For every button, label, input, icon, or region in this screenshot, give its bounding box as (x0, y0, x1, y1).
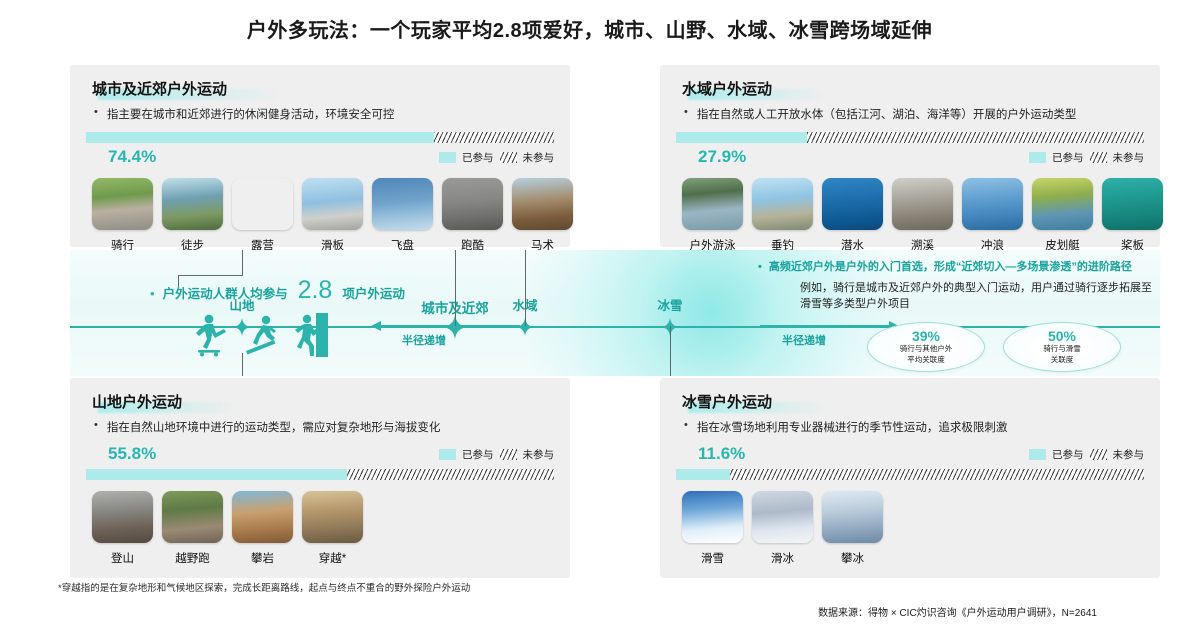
panel-water-bar (676, 132, 1144, 143)
activity-card[interactable]: 户外游泳 (682, 178, 743, 253)
insight-block: • 高频近郊户外是户外的入门首选，形成“近郊切入—多场景渗透”的进阶路径 例如，… (758, 260, 1158, 313)
legend-participated-swatch (439, 449, 456, 460)
legend-mountain: 已参与 未参与 (439, 447, 554, 462)
panel-snow-bar-fill (676, 469, 730, 480)
panel-water-description-row: • 指在自然或人工开放水体（包括江河、湖泊、海洋等）开展的户外运动类型 (684, 106, 1160, 122)
panel-snow-legend-row: 11.6% 已参与 未参与 (676, 444, 1144, 464)
panel-mountain-bar-wrap (86, 469, 554, 480)
center-spectrum-band: 半径递增 半径递增 • 户外运动人群人均参与 2.8 项户外运动 (70, 250, 1160, 376)
panel-city-percent: 74.4% (108, 147, 156, 167)
insight-head-row: • 高频近郊户外是户外的入门首选，形成“近郊切入—多场景渗透”的进阶路径 (758, 260, 1158, 275)
panel-mountain-legend-row: 55.8% 已参与 未参与 (86, 444, 554, 464)
bullet-icon: • (684, 106, 688, 122)
activity-card[interactable]: 冲浪 (962, 178, 1023, 253)
activity-photo (1032, 178, 1093, 230)
legend-water: 已参与 未参与 (1029, 150, 1144, 165)
panel-mountain-bar-fill (86, 469, 347, 480)
panel-snow-bar (676, 469, 1144, 480)
activity-photo (752, 178, 813, 230)
activity-photo (822, 178, 883, 230)
connector-water-down (525, 250, 526, 326)
panel-mountain-bar (86, 469, 554, 480)
activity-photo (822, 491, 883, 543)
activity-label: 登山 (92, 550, 153, 566)
activity-photo (302, 178, 363, 230)
insight-head: 高频近郊户外是户外的入门首选，形成“近郊切入—多场景渗透”的进阶路径 (769, 260, 1132, 275)
correlation-badge: 50%骑行与滑雪关联度 (1003, 322, 1121, 372)
average-participation-block: • 户外运动人群人均参与 2.8 项户外运动 (150, 276, 405, 362)
correlation-badge-caption-line1: 骑行与其他户外 (900, 344, 953, 354)
legend-not-participated-swatch (1090, 152, 1107, 163)
activity-photo (92, 178, 153, 230)
infographic-root: 户外多玩法：一个玩家平均2.8项爱好，城市、山野、水域、冰雪跨场域延伸 城市及近… (0, 0, 1179, 625)
spectrum-node-1[interactable]: 山地 (233, 318, 251, 336)
activity-photo (1102, 178, 1163, 230)
correlation-badge-caption-line1: 骑行与滑雪 (1043, 344, 1081, 354)
activity-card[interactable]: 溯溪 (892, 178, 953, 253)
activity-photo (892, 178, 953, 230)
average-participation-line: • 户外运动人群人均参与 2.8 项户外运动 (150, 276, 405, 305)
four-point-star-icon (233, 318, 251, 336)
activity-label: 穿越* (302, 550, 363, 566)
panel-snow-description: 指在冰雪场地利用专业器械进行的季节性运动，追求极限刺激 (697, 419, 1008, 435)
activity-card[interactable]: 徒步 (162, 178, 223, 253)
activity-card[interactable]: 滑冰 (752, 491, 813, 566)
panel-snow-percent: 11.6% (698, 444, 745, 464)
average-suffix: 项户外运动 (342, 283, 405, 302)
bullet-icon: • (758, 260, 762, 275)
activity-card[interactable]: 骑行 (92, 178, 153, 253)
legend-participated-label: 已参与 (1052, 447, 1084, 462)
activity-label: 越野跑 (162, 550, 223, 566)
connector-city-horizontal (178, 275, 243, 276)
panel-mountain-description-row: • 指在自然山地环境中进行的运动类型，需应对复杂地形与海拔变化 (94, 419, 570, 435)
legend-not-participated-swatch (500, 449, 517, 460)
activity-label: 滑冰 (752, 550, 813, 566)
legend-not-participated-label: 未参与 (523, 150, 555, 165)
panel-city-activities: 骑行徒步露营滑板飞盘跑酷马术 (92, 178, 570, 253)
legend-participated-swatch (1029, 449, 1046, 460)
panel-city-legend-row: 74.4% 已参与 未参与 (86, 147, 554, 167)
spectrum-node-label: 冰雪 (657, 295, 682, 314)
activity-photo (682, 178, 743, 230)
panel-city-bar-fill (86, 132, 434, 143)
radius-arrow-right-label: 半径递增 (782, 332, 826, 348)
activity-card[interactable]: 攀冰 (822, 491, 883, 566)
legend-not-participated-label: 未参与 (1113, 447, 1145, 462)
panel-snow-activities: 滑雪滑冰攀冰 (682, 491, 1160, 566)
panel-snow-bar-wrap (676, 469, 1144, 480)
activity-card[interactable]: 穿越* (302, 491, 363, 566)
activity-card[interactable]: 垂钓 (752, 178, 813, 253)
activity-card[interactable]: 登山 (92, 491, 153, 566)
bullet-icon: • (94, 106, 98, 122)
legend-participated-label: 已参与 (462, 150, 494, 165)
activity-card[interactable]: 马术 (512, 178, 573, 253)
panel-city-heading: 城市及近郊户外运动 (92, 78, 227, 99)
activity-card[interactable]: 皮划艇 (1032, 178, 1093, 253)
footnote: *穿越指的是在复杂地形和气候地区探索，完成长距离路线，起点与终点不重合的野外探险… (58, 580, 470, 594)
insight-sub: 例如，骑行是城市及近郊户外的典型入门运动，用户通过骑行逐步拓展至滑雪等多类型户外… (800, 280, 1158, 313)
activity-card[interactable]: 滑板 (302, 178, 363, 253)
panel-water-bar-fill (676, 132, 807, 143)
activity-card[interactable]: 潜水 (822, 178, 883, 253)
activity-photo (232, 178, 293, 230)
panel-mountain-outdoor: 山地户外运动 • 指在自然山地环境中进行的运动类型，需应对复杂地形与海拔变化 5… (70, 378, 570, 578)
activity-photo (962, 178, 1023, 230)
activity-label: 滑雪 (682, 550, 743, 566)
panel-city-description: 指主要在城市和近郊进行的休闲健身活动，环境安全可控 (107, 106, 395, 122)
legend-not-participated-label: 未参与 (523, 447, 555, 462)
activity-photo (752, 491, 813, 543)
activity-photo (162, 491, 223, 543)
panel-city-bar (86, 132, 554, 143)
panel-mountain-heading: 山地户外运动 (92, 391, 182, 412)
average-sport-icons (194, 313, 405, 362)
correlation-badge-caption-line2: 平均关联度 (907, 355, 945, 365)
climber-icon (294, 313, 328, 362)
panel-water-legend-row: 27.9% 已参与 未参与 (676, 147, 1144, 167)
activity-label: 攀冰 (822, 550, 883, 566)
panel-snow-heading: 冰雪户外运动 (682, 391, 772, 412)
correlation-badge-caption-line2: 关联度 (1051, 355, 1074, 365)
panel-city-description-row: • 指主要在城市和近郊进行的休闲健身活动，环境安全可控 (94, 106, 570, 122)
activity-photo (512, 178, 573, 230)
legend-not-participated-label: 未参与 (1113, 150, 1145, 165)
insight-badges: 39%骑行与其他户外平均关联度50%骑行与滑雪关联度 (867, 322, 1121, 372)
average-prefix: 户外运动人群人均参与 (163, 283, 288, 302)
connector-snow-down (670, 326, 671, 376)
activity-card[interactable]: 露营 (232, 178, 293, 253)
correlation-badge-value: 50% (1048, 329, 1076, 344)
activity-photo (92, 491, 153, 543)
legend-participated-label: 已参与 (1052, 150, 1084, 165)
panel-water-description: 指在自然或人工开放水体（包括江河、湖泊、海洋等）开展的户外运动类型 (697, 106, 1077, 122)
panel-city-outdoor: 城市及近郊户外运动 • 指主要在城市和近郊进行的休闲健身活动，环境安全可控 74… (70, 65, 570, 247)
spectrum-node-label: 山地 (229, 295, 254, 314)
activity-photo (162, 178, 223, 230)
panel-mountain-percent: 55.8% (108, 444, 156, 464)
correlation-badge-value: 39% (912, 329, 940, 344)
bullet-icon: • (94, 419, 98, 435)
average-number: 2.8 (296, 276, 335, 305)
panel-snow-description-row: • 指在冰雪场地利用专业器械进行的季节性运动，追求极限刺激 (684, 419, 1160, 435)
connector-mountain-up (242, 353, 243, 376)
connector-city-up (455, 250, 456, 326)
activity-photo (372, 178, 433, 230)
correlation-badge: 39%骑行与其他户外平均关联度 (867, 322, 985, 372)
activity-card[interactable]: 桨板 (1102, 178, 1163, 253)
activity-photo (302, 491, 363, 543)
activity-photo (442, 178, 503, 230)
data-source: 数据来源：得物 × CIC灼识咨询《户外运动用户调研》，N=2641 (818, 604, 1097, 619)
panel-water-heading: 水域户外运动 (682, 78, 772, 99)
panel-water-bar-wrap (676, 132, 1144, 143)
activity-label: 攀岩 (232, 550, 293, 566)
connector-mountain-down (242, 250, 243, 276)
panel-mountain-description: 指在自然山地环境中进行的运动类型，需应对复杂地形与海拔变化 (107, 419, 441, 435)
legend-city: 已参与 未参与 (439, 150, 554, 165)
bullet-icon: • (150, 286, 155, 301)
legend-not-participated-swatch (500, 152, 517, 163)
activity-card[interactable]: 飞盘 (372, 178, 433, 253)
activity-card[interactable]: 越野跑 (162, 491, 223, 566)
legend-snow: 已参与 未参与 (1029, 447, 1144, 462)
panel-water-activities: 户外游泳垂钓潜水溯溪冲浪皮划艇桨板 (682, 178, 1160, 253)
bullet-icon: • (684, 419, 688, 435)
legend-participated-label: 已参与 (462, 447, 494, 462)
panel-city-bar-wrap (86, 132, 554, 143)
activity-card[interactable]: 攀岩 (232, 491, 293, 566)
skateboarder-icon (194, 313, 228, 362)
legend-participated-swatch (1029, 152, 1046, 163)
panel-mountain-activities: 登山越野跑攀岩穿越* (92, 491, 570, 566)
connector-city-stub (178, 275, 179, 287)
panel-snow-outdoor: 冰雪户外运动 • 指在冰雪场地利用专业器械进行的季节性运动，追求极限刺激 11.… (660, 378, 1160, 578)
activity-card[interactable]: 滑雪 (682, 491, 743, 566)
legend-participated-swatch (439, 152, 456, 163)
radius-arrow-left-label: 半径递增 (402, 332, 446, 348)
activity-card[interactable]: 跑酷 (442, 178, 503, 253)
panel-water-outdoor: 水域户外运动 • 指在自然或人工开放水体（包括江河、湖泊、海洋等）开展的户外运动… (660, 65, 1160, 247)
panel-water-percent: 27.9% (698, 147, 746, 167)
legend-not-participated-swatch (1090, 449, 1107, 460)
page-title: 户外多玩法：一个玩家平均2.8项爱好，城市、山野、水域、冰雪跨场域延伸 (0, 14, 1179, 43)
activity-photo (232, 491, 293, 543)
activity-photo (682, 491, 743, 543)
